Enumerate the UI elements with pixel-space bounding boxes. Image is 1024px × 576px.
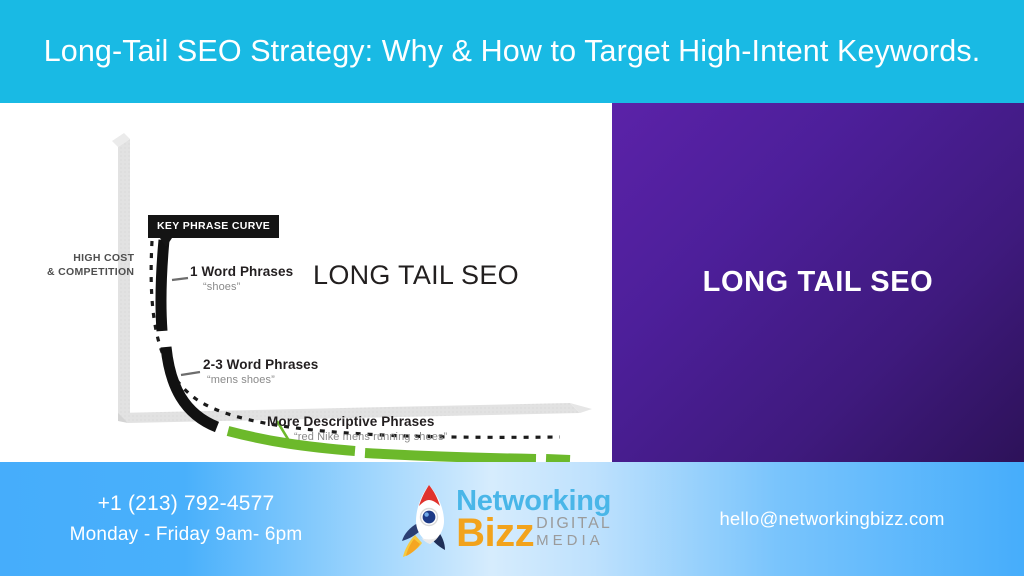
brand-logo[interactable]: Networking Bizz DIGITAL MEDIA (372, 462, 640, 576)
chart-graphic (0, 103, 612, 462)
footer-contact-block: +1 (213) 792-4577 Monday - Friday 9am- 6… (0, 492, 372, 546)
footer-email-block: hello@networkingbizz.com (640, 508, 1024, 530)
logo-tagline-media: MEDIA (536, 533, 612, 548)
page-title: Long-Tail SEO Strategy: Why & How to Tar… (26, 31, 998, 72)
leader-line-1-word (172, 278, 188, 280)
curve-segment-1-word (161, 240, 164, 331)
rocket-icon (400, 479, 454, 559)
callout-more-descriptive-phrases: More Descriptive Phrases “red Nike mens … (267, 414, 447, 443)
logo-tagline: DIGITAL MEDIA (536, 516, 612, 551)
logo-word-bizz: Bizz (456, 516, 534, 551)
purple-panel-title: LONG TAIL SEO (703, 266, 934, 299)
purple-highlight-panel: LONG TAIL SEO (612, 103, 1024, 462)
callout-2-3-word-phrases: 2-3 Word Phrases “mens shoes” (203, 357, 318, 386)
leader-line-2-3-word (181, 372, 200, 375)
slide-header: Long-Tail SEO Strategy: Why & How to Tar… (0, 0, 1024, 103)
slide-canvas: Long-Tail SEO Strategy: Why & How to Tar… (0, 0, 1024, 576)
slide-footer: +1 (213) 792-4577 Monday - Friday 9am- 6… (0, 462, 1024, 576)
chart-heading: LONG TAIL SEO (313, 260, 519, 291)
footer-business-hours: Monday - Friday 9am- 6pm (70, 524, 303, 546)
axis-label-high-cost: HIGH COST & COMPETITION (47, 251, 134, 279)
logo-tagline-digital: DIGITAL (536, 516, 612, 532)
slide-body: KEY PHRASE CURVE LONG TAIL SEO HIGH COST… (0, 103, 1024, 462)
callout-1-word-phrases: 1 Word Phrases “shoes” (190, 264, 293, 293)
curve-segment-descriptive-c (546, 459, 570, 460)
footer-phone[interactable]: +1 (213) 792-4577 (98, 492, 275, 516)
curve-segment-descriptive-b (365, 453, 536, 459)
footer-email[interactable]: hello@networkingbizz.com (719, 508, 944, 530)
key-phrase-curve-badge: KEY PHRASE CURVE (148, 215, 279, 238)
long-tail-seo-chart: KEY PHRASE CURVE LONG TAIL SEO HIGH COST… (0, 103, 612, 462)
